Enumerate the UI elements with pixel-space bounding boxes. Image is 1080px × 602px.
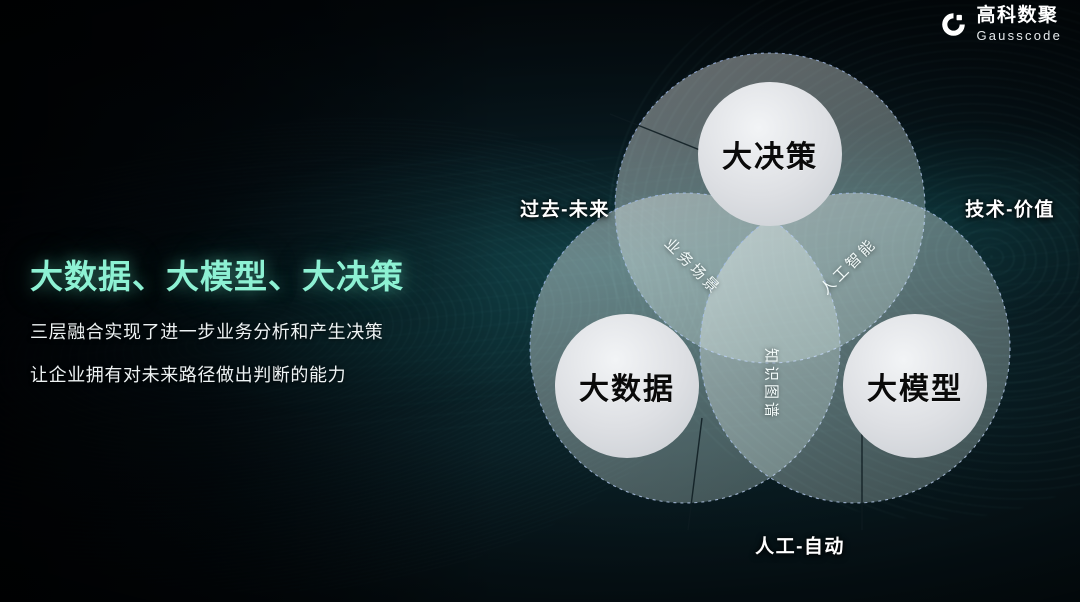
page-title: 大数据、大模型、大决策	[30, 250, 460, 298]
subtitle-line-1: 三层融合实现了进一步业务分析和产生决策	[30, 318, 460, 344]
headline-block: 大数据、大模型、大决策 三层融合实现了进一步业务分析和产生决策 让企业拥有对未来…	[30, 250, 460, 387]
venn-axis-label-manual-automatic: 人工-自动	[755, 532, 845, 559]
venn-node-label-decision: 大决策	[722, 132, 818, 176]
venn-axis-label-past-future: 过去-未来	[520, 195, 610, 222]
venn-diagram: 大决策 大数据 大模型 业务场景 人工智能 知识图谱 过去-未来 技术-价值 人…	[470, 18, 1050, 558]
venn-node-label-bigdata: 大数据	[579, 364, 675, 408]
venn-overlap-label-knowledge-graph: 知识图谱	[762, 348, 783, 420]
venn-node-label-bigmodel: 大模型	[867, 364, 963, 408]
venn-axis-label-tech-value: 技术-价值	[965, 195, 1055, 222]
subtitle-line-2: 让企业拥有对未来路径做出判断的能力	[30, 361, 460, 387]
slide-canvas: 高科数聚 Gausscode 大数据、大模型、大决策 三层融合实现了进一步业务分…	[0, 0, 1080, 602]
venn-circles	[470, 18, 1050, 558]
